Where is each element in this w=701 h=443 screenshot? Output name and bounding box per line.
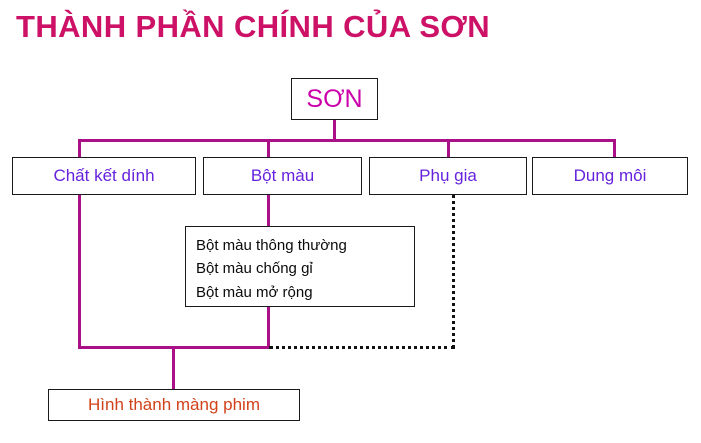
node-chat-ket-dinh-label: Chất kết dính [53, 166, 154, 186]
page-title: THÀNH PHẦN CHÍNH CỦA SƠN [16, 8, 490, 47]
node-pigment-types-list[interactable]: Bột màu thông thường Bột màu chống gỉ Bộ… [185, 226, 415, 307]
node-dung-moi[interactable]: Dung môi [532, 157, 688, 195]
node-bot-mau-label: Bột màu [251, 166, 314, 186]
node-chat-ket-dinh[interactable]: Chất kết dính [12, 157, 196, 195]
connector-drop-solvent [613, 139, 616, 158]
node-bot-mau[interactable]: Bột màu [203, 157, 362, 195]
list-item: Bột màu chống gỉ [196, 257, 404, 280]
node-hinh-thanh-mang-phim-label: Hình thành màng phim [88, 395, 260, 415]
paint-composition-diagram: THÀNH PHẦN CHÍNH CỦA SƠN SƠN Chất kết dí… [0, 0, 701, 443]
node-son-label: SƠN [306, 85, 362, 114]
connector-trunk-horizontal [78, 139, 616, 142]
node-phu-gia[interactable]: Phụ gia [369, 157, 527, 195]
connector-drop-binder [78, 139, 81, 158]
list-item: Bột màu mở rộng [196, 281, 404, 304]
node-son[interactable]: SƠN [291, 78, 378, 120]
connector-additive-dotted-horizontal [269, 346, 455, 349]
connector-drop-additive [447, 139, 450, 158]
connector-root-stem [333, 119, 336, 141]
connector-list-to-junction [267, 307, 270, 349]
node-hinh-thanh-mang-phim[interactable]: Hình thành màng phim [48, 389, 300, 421]
connector-drop-pigment [267, 139, 270, 158]
connector-binder-down [78, 195, 81, 349]
list-item: Bột màu thông thường [196, 234, 404, 257]
connector-additive-dotted-vertical [452, 195, 455, 348]
connector-junction-to-outcome [172, 346, 175, 390]
node-dung-moi-label: Dung môi [574, 166, 647, 186]
node-phu-gia-label: Phụ gia [419, 166, 477, 186]
connector-pigment-to-list [267, 195, 270, 227]
